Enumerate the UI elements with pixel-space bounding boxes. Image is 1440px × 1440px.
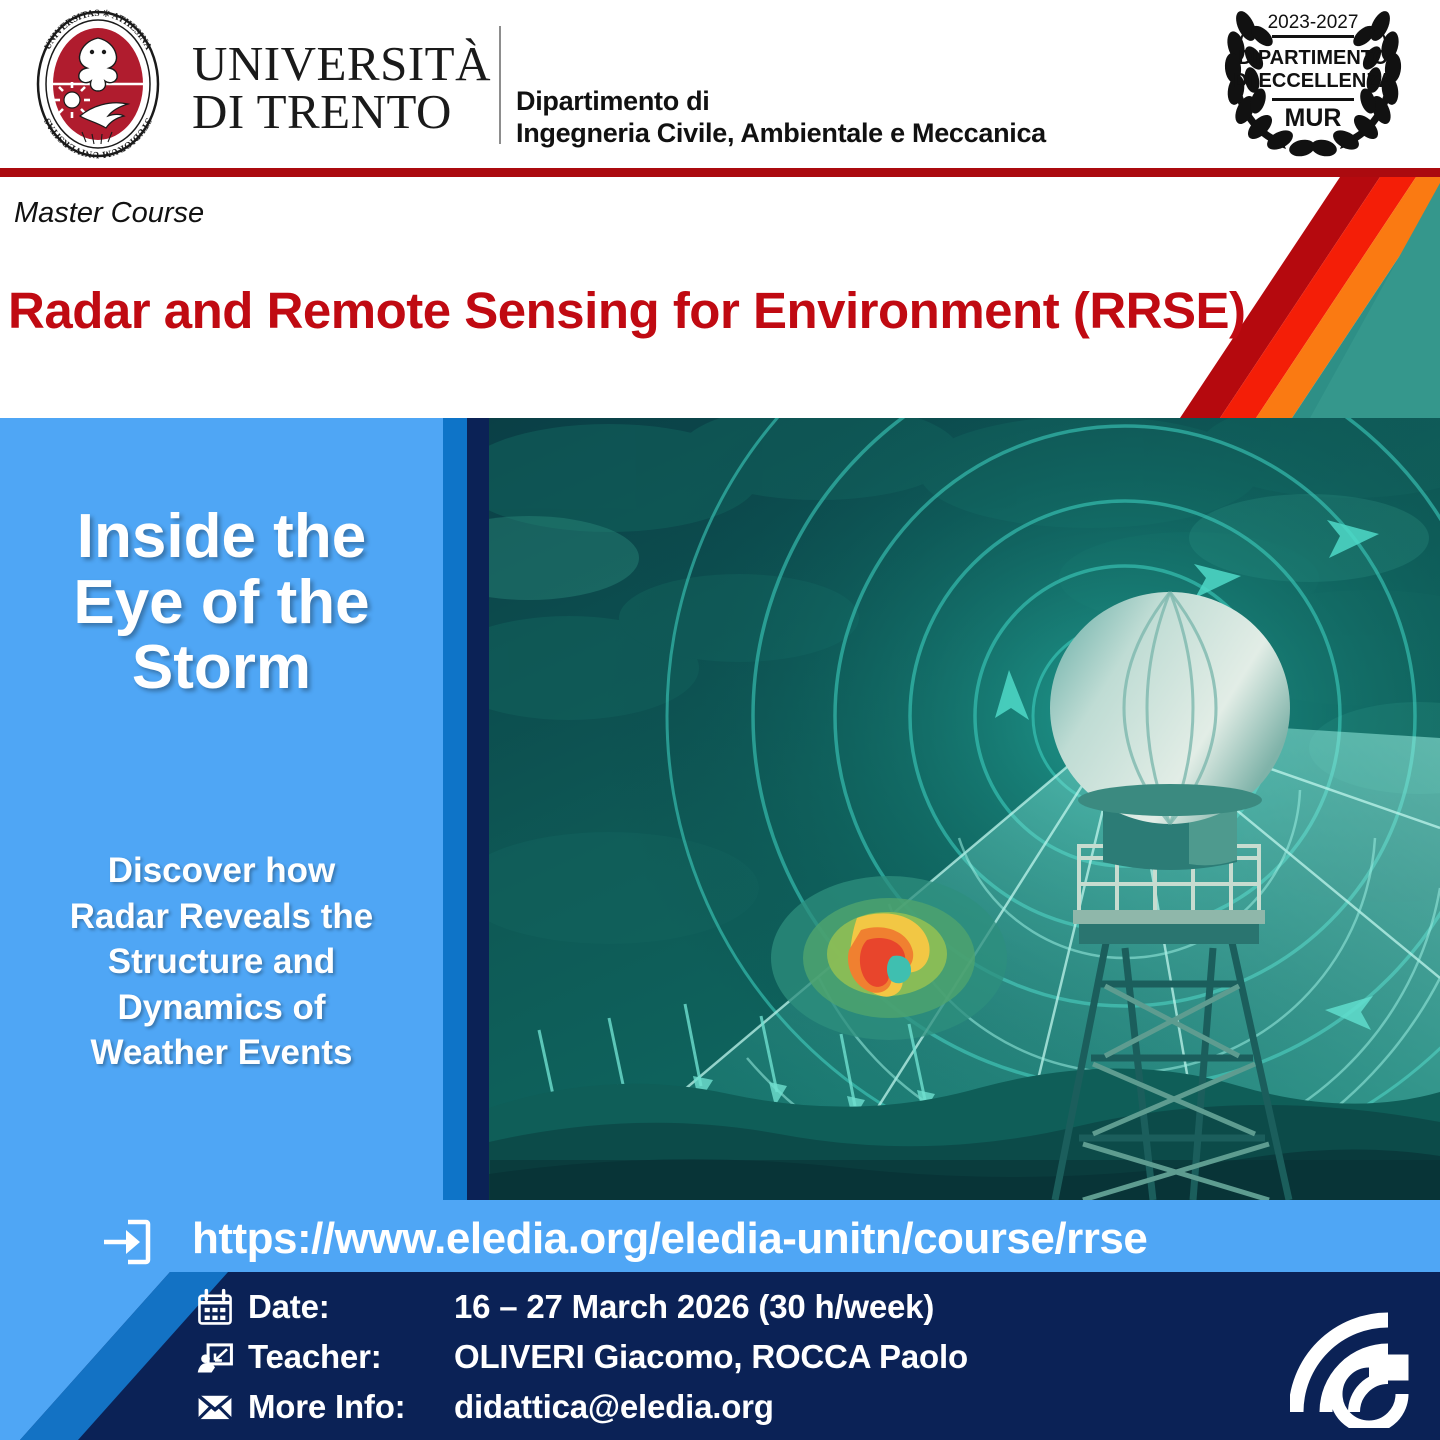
university-wordmark: UNIVERSITÀ DI TRENTO: [192, 38, 492, 138]
footer-value-teacher: OLIVERI Giacomo, ROCCA Paolo: [454, 1338, 968, 1376]
department-line1: Dipartimento di: [516, 86, 1216, 118]
badge-years: 2023-2027: [1268, 12, 1359, 33]
university-of-trento-logo: UNIVERSITAS ✳ ATHESINA STUDIORUM UNIVERS…: [22, 8, 174, 160]
radar-storm-illustration: [489, 418, 1440, 1200]
promo-headline: Inside the Eye of the Storm: [10, 504, 433, 701]
footer-info-rows: Date: 16 – 27 March 2026 (30 h/week) Tea…: [196, 1282, 1196, 1432]
enter-arrow-icon: [100, 1216, 152, 1268]
department-name: Dipartimento di Ingegneria Civile, Ambie…: [516, 86, 1216, 150]
promo-subheadline: Discover how Radar Reveals the Structure…: [10, 848, 433, 1076]
kicker-master-course: Master Course: [14, 197, 204, 230]
badge-line3: MUR: [1285, 104, 1342, 132]
footer-row-more-info: More Info: didattica@eledia.org: [196, 1382, 1196, 1432]
poster-footer: Date: 16 – 27 March 2026 (30 h/week) Tea…: [0, 1272, 1440, 1440]
footer-row-date: Date: 16 – 27 March 2026 (30 h/week): [196, 1282, 1196, 1332]
poster-body: Inside the Eye of the Storm Discover how…: [0, 418, 1440, 1200]
panel-accent-stripe: [443, 418, 467, 1200]
badge-line1: DIPARTIMENTO: [1238, 47, 1388, 69]
header-rule: [0, 168, 1440, 177]
university-name-line1: UNIVERSITÀ: [192, 40, 492, 89]
eledia-logo: [1290, 1308, 1418, 1428]
course-title: Radar and Remote Sensing for Environment…: [8, 281, 1268, 340]
title-band: Master Course Radar and Remote Sensing f…: [0, 177, 1440, 418]
footer-value-date: 16 – 27 March 2026 (30 h/week): [454, 1288, 934, 1326]
footer-label-teacher: Teacher:: [248, 1338, 454, 1376]
course-url-bar[interactable]: https://www.eledia.org/eledia-unitn/cour…: [0, 1200, 1440, 1282]
department-line2: Ingegneria Civile, Ambientale e Meccanic…: [516, 118, 1216, 150]
footer-label-date: Date:: [248, 1288, 454, 1326]
course-poster: UNIVERSITAS ✳ ATHESINA STUDIORUM UNIVERS…: [0, 0, 1440, 1440]
calendar-icon: [196, 1285, 248, 1329]
footer-value-more-info[interactable]: didattica@eledia.org: [454, 1388, 774, 1426]
footer-row-teacher: Teacher: OLIVERI Giacomo, ROCCA Paolo: [196, 1332, 1196, 1382]
university-name-line2: DI TRENTO: [192, 88, 492, 137]
poster-header: UNIVERSITAS ✳ ATHESINA STUDIORUM UNIVERS…: [0, 0, 1440, 168]
storm-reflectivity-blob: [771, 876, 1007, 1040]
course-url[interactable]: https://www.eledia.org/eledia-unitn/cour…: [192, 1214, 1147, 1264]
badge-line2: DI ECCELLENZA: [1233, 70, 1393, 92]
footer-label-more-info: More Info:: [248, 1388, 454, 1426]
panel-navy-stripe: [467, 418, 489, 1200]
envelope-icon: [196, 1385, 248, 1429]
header-divider: [499, 26, 501, 144]
teacher-icon: [196, 1335, 248, 1379]
department-of-excellence-badge: 2023-2027 DIPARTIMENTO DI ECCELLENZA MUR: [1200, 2, 1426, 160]
